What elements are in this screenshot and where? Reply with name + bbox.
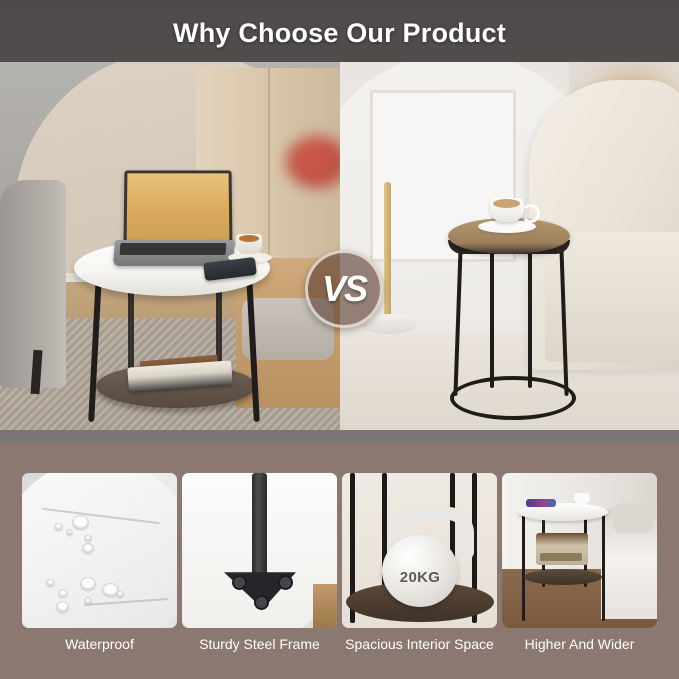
water-droplet: [80, 577, 96, 591]
tablet-device: [526, 499, 556, 507]
water-droplet: [46, 579, 55, 587]
water-droplet: [72, 515, 89, 530]
bed-pillow: [613, 503, 653, 533]
page-title: Why Choose Our Product: [173, 18, 506, 49]
vs-badge-label: VS: [322, 271, 366, 307]
steel-leg-tube-icon: [252, 473, 267, 585]
water-droplet: [82, 543, 94, 554]
laptop-keyboard: [120, 243, 227, 255]
feature-label-waterproof: Waterproof: [22, 636, 177, 652]
bracket-bolt-icon: [278, 575, 293, 590]
water-droplet: [54, 523, 63, 531]
others-cup-handle: [521, 204, 540, 223]
laptop-screen: [124, 170, 233, 246]
feature-label-row: Waterproof Sturdy Steel Frame Spacious I…: [22, 636, 657, 652]
feature-label-higher-wider: Higher And Wider: [502, 636, 657, 652]
comparison-section: Ours: [0, 62, 679, 430]
title-bar: Why Choose Our Product: [0, 0, 679, 66]
radio-dial-panel: [540, 553, 582, 561]
feature-panel-interior-space: 20KG: [342, 473, 497, 628]
comparison-pane-others: Others: [340, 62, 679, 430]
water-droplet: [116, 591, 124, 598]
feature-label-steel-frame: Sturdy Steel Frame: [182, 636, 337, 652]
vs-badge: VS: [305, 250, 383, 328]
side-table-leg: [522, 513, 525, 621]
water-droplet: [56, 601, 69, 613]
feature-panel-higher-wider: [502, 473, 657, 628]
ours-red-decor-blur: [286, 136, 340, 188]
feature-strip: 20KG Waterproof Sturdy: [0, 443, 679, 679]
feature-panel-steel-frame: [182, 473, 337, 628]
side-table-lower-shelf: [524, 569, 602, 585]
water-droplet: [84, 535, 92, 542]
others-table-leg-rear-right: [528, 248, 532, 388]
feature-image-row: 20KG: [22, 473, 657, 628]
water-droplet: [84, 597, 92, 605]
ours-coffee-surface: [239, 235, 259, 242]
others-table-leg-rear-left: [490, 248, 494, 388]
side-table-cup: [574, 493, 590, 504]
feature-panel-waterproof: [22, 473, 177, 628]
others-coffee-surface: [493, 199, 520, 208]
side-table-leg: [602, 513, 605, 621]
water-droplet: [66, 529, 73, 536]
product-comparison-poster: Why Choose Our Product: [0, 0, 679, 679]
steel-frame-wood-floor: [313, 584, 337, 628]
bracket-bolt-icon: [254, 595, 269, 610]
comparison-pane-ours: Ours: [0, 62, 340, 430]
water-droplet: [58, 589, 68, 598]
others-scene-image: [340, 62, 679, 430]
others-table-base-ring: [450, 376, 576, 420]
bracket-bolt-icon: [232, 575, 247, 590]
kettlebell-weight-label: 20KG: [382, 569, 458, 586]
others-floor-lamp-pole: [384, 182, 391, 320]
ours-scene-image: [0, 62, 340, 430]
feature-label-interior-space: Spacious Interior Space: [342, 636, 497, 652]
